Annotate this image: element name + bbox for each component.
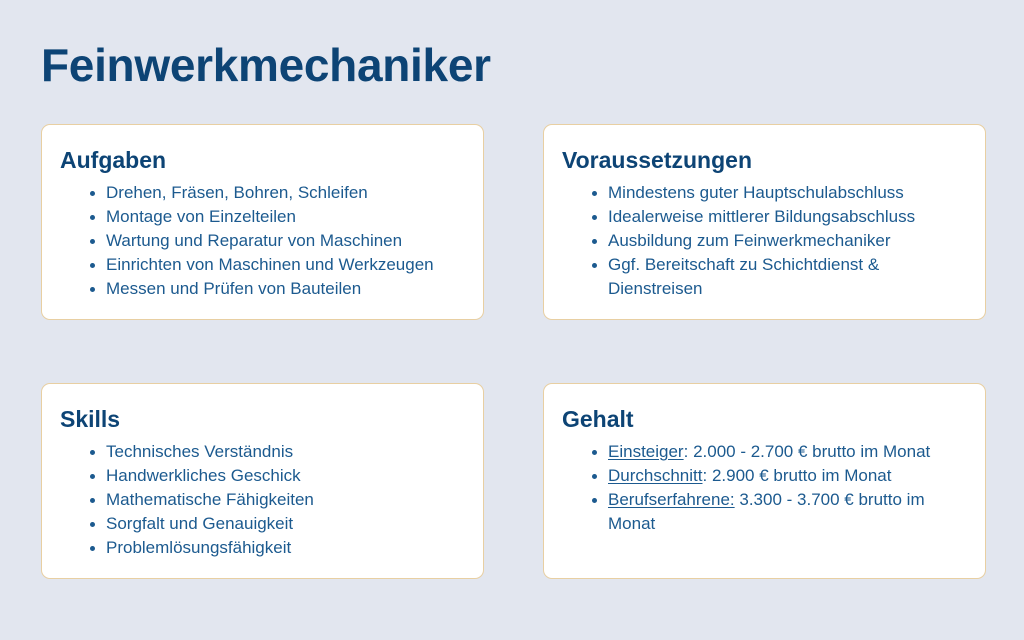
list-item-text: Ggf. Bereitschaft zu Schichtdienst & Die…	[608, 255, 879, 298]
list-item: Sorgfalt und Genauigkeit	[90, 512, 461, 536]
list-item-text: Problemlösungsfähigkeit	[106, 538, 291, 557]
card-list-skills: Technisches Verständnis Handwerkliches G…	[60, 440, 461, 560]
list-item: Ausbildung zum Feinwerkmechaniker	[592, 229, 963, 253]
list-item: Einrichten von Maschinen und Werkzeugen	[90, 253, 461, 277]
card-grid: Aufgaben Drehen, Fräsen, Bohren, Schleif…	[41, 124, 986, 579]
list-item: Idealerweise mittlerer Bildungsabschluss	[592, 205, 963, 229]
list-item: Durchschnitt: 2.900 € brutto im Monat	[592, 464, 963, 488]
list-item: Ggf. Bereitschaft zu Schichtdienst & Die…	[592, 253, 963, 301]
page-root: Feinwerkmechaniker Aufgaben Drehen, Fräs…	[0, 0, 1024, 640]
list-item: Messen und Prüfen von Bauteilen	[90, 277, 461, 301]
list-item-text: Wartung und Reparatur von Maschinen	[106, 231, 402, 250]
list-item-text: Mindestens guter Hauptschulabschluss	[608, 183, 904, 202]
list-item: Montage von Einzelteilen	[90, 205, 461, 229]
card-list-voraussetzungen: Mindestens guter Hauptschulabschluss Ide…	[562, 181, 963, 301]
list-item: Handwerkliches Geschick	[90, 464, 461, 488]
list-item-text: Idealerweise mittlerer Bildungsabschluss	[608, 207, 915, 226]
list-item-text: Drehen, Fräsen, Bohren, Schleifen	[106, 183, 368, 202]
list-item: Mathematische Fähigkeiten	[90, 488, 461, 512]
list-item-text: Einrichten von Maschinen und Werkzeugen	[106, 255, 434, 274]
list-item-text: Handwerkliches Geschick	[106, 466, 301, 485]
salary-value: 2.900 € brutto im Monat	[712, 466, 892, 485]
card-aufgaben: Aufgaben Drehen, Fräsen, Bohren, Schleif…	[41, 124, 484, 320]
list-item: Problemlösungsfähigkeit	[90, 536, 461, 560]
list-item: Wartung und Reparatur von Maschinen	[90, 229, 461, 253]
list-item-text: Ausbildung zum Feinwerkmechaniker	[608, 231, 891, 250]
card-title-aufgaben: Aufgaben	[60, 145, 461, 175]
card-list-gehalt: Einsteiger: 2.000 - 2.700 € brutto im Mo…	[562, 440, 963, 536]
salary-value: 2.000 - 2.700 € brutto im Monat	[693, 442, 930, 461]
salary-separator: :	[684, 442, 693, 461]
card-title-voraussetzungen: Voraussetzungen	[562, 145, 963, 175]
salary-level-label: Einsteiger	[608, 442, 684, 461]
card-title-skills: Skills	[60, 404, 461, 434]
list-item-text: Mathematische Fähigkeiten	[106, 490, 314, 509]
list-item-text: Montage von Einzelteilen	[106, 207, 296, 226]
list-item-text: Sorgfalt und Genauigkeit	[106, 514, 293, 533]
list-item-text: Messen und Prüfen von Bauteilen	[106, 279, 361, 298]
list-item: Mindestens guter Hauptschulabschluss	[592, 181, 963, 205]
card-list-aufgaben: Drehen, Fräsen, Bohren, Schleifen Montag…	[60, 181, 461, 301]
list-item: Einsteiger: 2.000 - 2.700 € brutto im Mo…	[592, 440, 963, 464]
card-voraussetzungen: Voraussetzungen Mindestens guter Hauptsc…	[543, 124, 986, 320]
card-title-gehalt: Gehalt	[562, 404, 963, 434]
list-item: Technisches Verständnis	[90, 440, 461, 464]
salary-separator: :	[702, 466, 711, 485]
list-item: Berufserfahrene: 3.300 - 3.700 € brutto …	[592, 488, 963, 536]
card-gehalt: Gehalt Einsteiger: 2.000 - 2.700 € brutt…	[543, 383, 986, 579]
card-skills: Skills Technisches Verständnis Handwerkl…	[41, 383, 484, 579]
list-item-text: Technisches Verständnis	[106, 442, 293, 461]
page-title: Feinwerkmechaniker	[41, 36, 491, 94]
list-item: Drehen, Fräsen, Bohren, Schleifen	[90, 181, 461, 205]
salary-level-label: Berufserfahrene:	[608, 490, 735, 509]
salary-level-label: Durchschnitt	[608, 466, 702, 485]
